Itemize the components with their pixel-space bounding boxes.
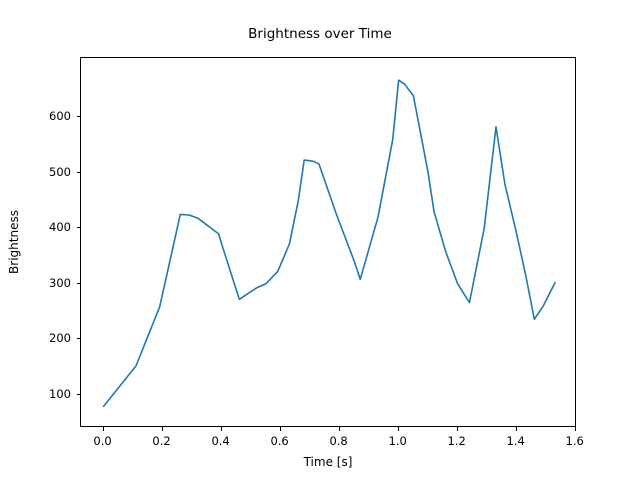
y-axis-label: Brightness [7,210,21,274]
x-tick-label: 1.0 [388,434,406,448]
x-tick-label: 0.4 [211,434,229,448]
y-tick-label: 100 [49,387,71,401]
x-tick-label: 1.4 [507,434,525,448]
x-tick-label: 0.2 [152,434,170,448]
y-tick-label: 500 [49,165,71,179]
x-axis-label: Time [s] [80,455,576,469]
x-tick-label: 0.0 [93,434,111,448]
plot-area [80,57,576,427]
y-tick-label: 600 [49,109,71,123]
y-tick-label: 200 [49,331,71,345]
data-line-series [81,58,577,428]
x-tick-label: 0.8 [329,434,347,448]
x-tick-label: 1.6 [566,434,584,448]
x-tick-label: 1.2 [447,434,465,448]
matplotlib-figure: Brightness over Time Brightness Time [s]… [0,0,640,480]
y-tick-label: 400 [49,220,71,234]
brightness-line [104,80,555,406]
y-tick-label: 300 [49,276,71,290]
x-tick-label: 0.6 [270,434,288,448]
chart-title: Brightness over Time [0,26,640,42]
